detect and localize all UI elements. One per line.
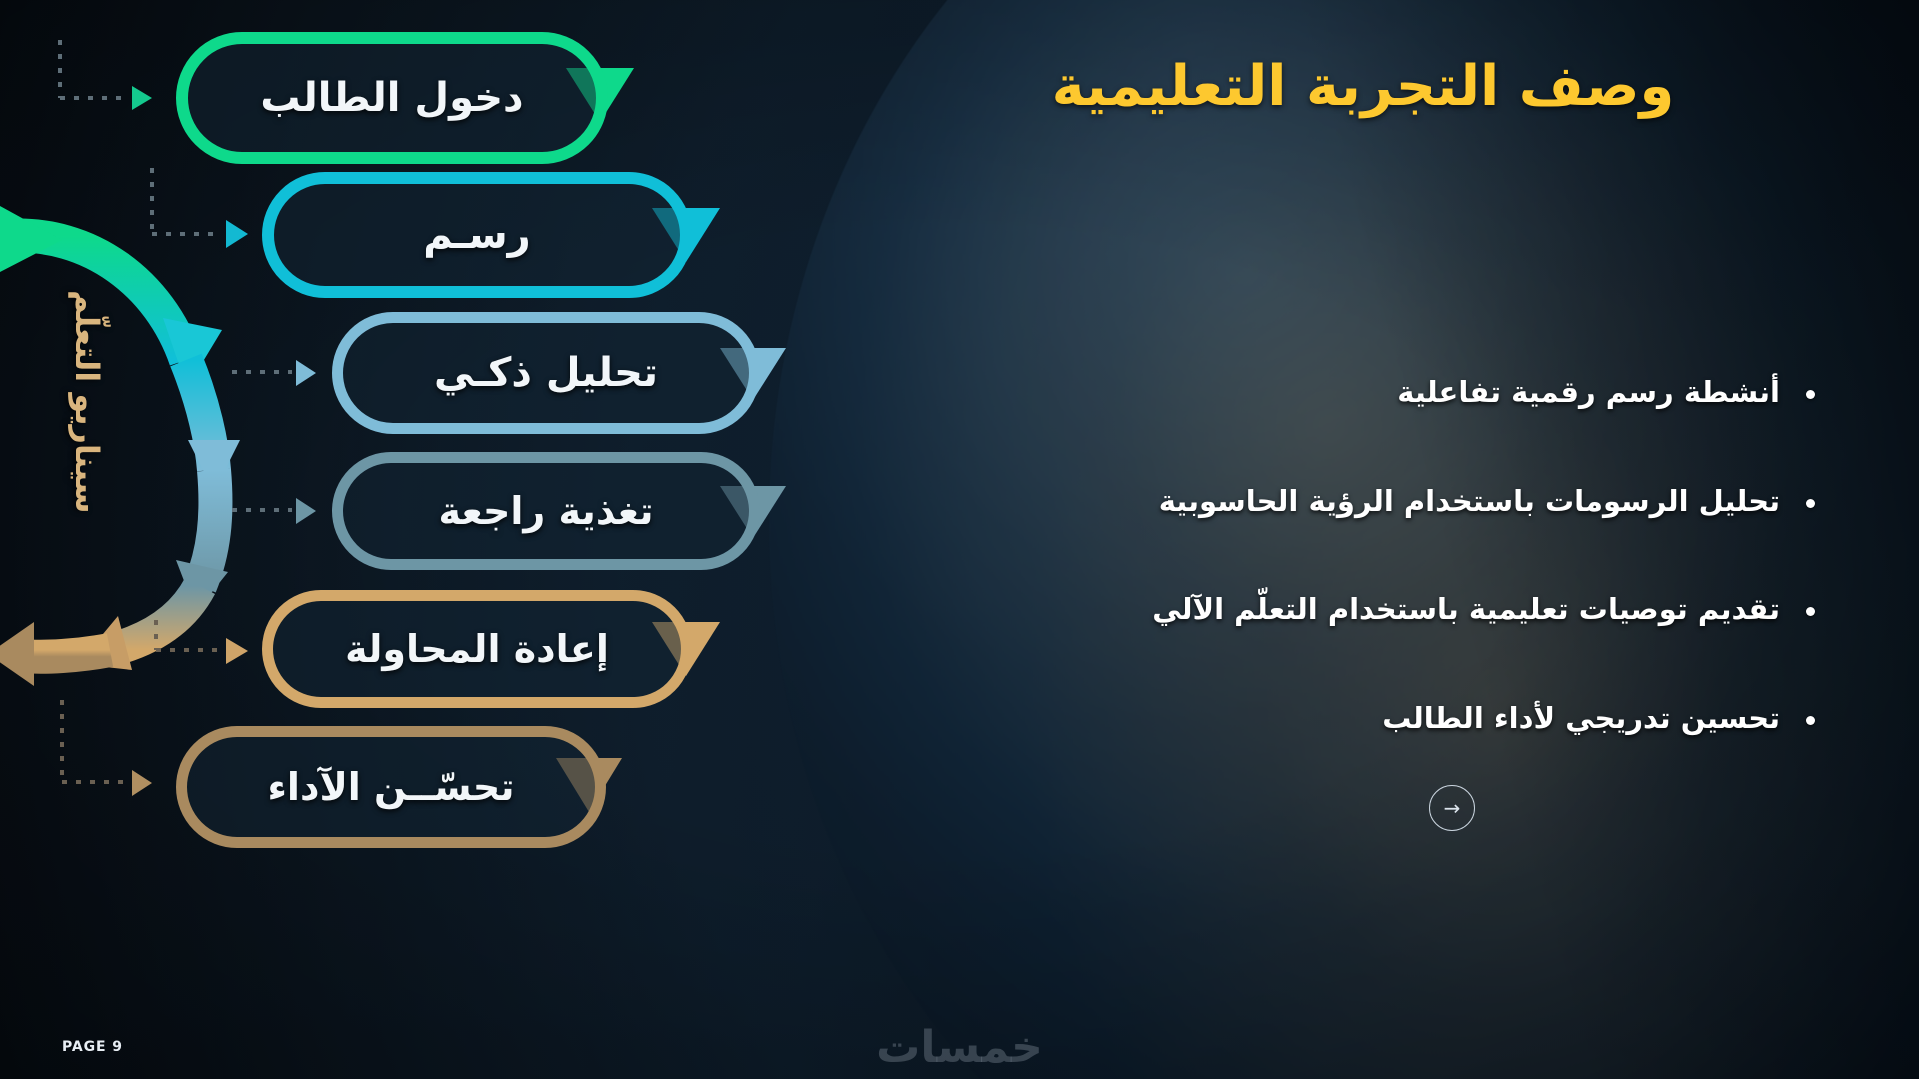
list-item: تقديم توصيات تعليمية باستخدام التعلّم ال… xyxy=(935,589,1815,630)
flow-step-4-label: تغذية راجعة xyxy=(439,489,654,533)
bullet-dot-icon xyxy=(1806,607,1815,616)
flow-step-4[interactable]: تغذية راجعة xyxy=(332,452,760,570)
bullet-text: أنشطة رسم رقمية تفاعلية xyxy=(1397,372,1780,413)
flow-step-1[interactable]: دخول الطالب xyxy=(176,32,608,164)
bullet-text: تحسين تدريجي لأداء الطالب xyxy=(1382,698,1780,739)
flow-step-2[interactable]: رسـم xyxy=(262,172,692,298)
next-arrow-glyph: → xyxy=(1444,796,1461,820)
watermark-logo: خمسات xyxy=(876,1022,1043,1073)
flow-step-5-label: إعادة المحاولة xyxy=(345,627,609,671)
bullet-list: أنشطة رسم رقمية تفاعلية تحليل الرسومات ب… xyxy=(935,372,1815,806)
flow-step-3-label: تحليل ذكـي xyxy=(434,350,658,396)
flow-step-2-label: رسـم xyxy=(423,212,530,258)
flow-step-6[interactable]: تحسّــن الآداء xyxy=(176,726,606,848)
flow-step-6-label: تحسّــن الآداء xyxy=(268,765,515,809)
bullet-dot-icon xyxy=(1806,716,1815,725)
list-item: تحسين تدريجي لأداء الطالب xyxy=(935,698,1815,739)
page-title: وصف التجربة التعليمية xyxy=(923,52,1803,122)
cycle-label: سيناريو التعلّم xyxy=(46,290,106,514)
list-item: تحليل الرسومات باستخدام الرؤية الحاسوبية xyxy=(935,481,1815,522)
bullet-text: تقديم توصيات تعليمية باستخدام التعلّم ال… xyxy=(1152,589,1780,630)
slide-canvas: دخول الطالب رسـم تحليل ذكـي تغذية راجعة … xyxy=(0,0,1919,1079)
flow-diagram: دخول الطالب رسـم تحليل ذكـي تغذية راجعة … xyxy=(0,0,900,1079)
bullet-dot-icon xyxy=(1806,390,1815,399)
next-arrow-icon[interactable]: → xyxy=(1429,785,1475,831)
flow-step-5[interactable]: إعادة المحاولة xyxy=(262,590,692,708)
page-number: PAGE 9 xyxy=(62,1039,123,1055)
list-item: أنشطة رسم رقمية تفاعلية xyxy=(935,372,1815,413)
flow-step-3[interactable]: تحليل ذكـي xyxy=(332,312,760,434)
bullet-dot-icon xyxy=(1806,499,1815,508)
flow-step-1-label: دخول الطالب xyxy=(260,75,523,121)
bullet-text: تحليل الرسومات باستخدام الرؤية الحاسوبية xyxy=(1159,481,1780,522)
content-panel: وصف التجربة التعليمية أنشطة رسم رقمية تف… xyxy=(875,0,1875,1079)
